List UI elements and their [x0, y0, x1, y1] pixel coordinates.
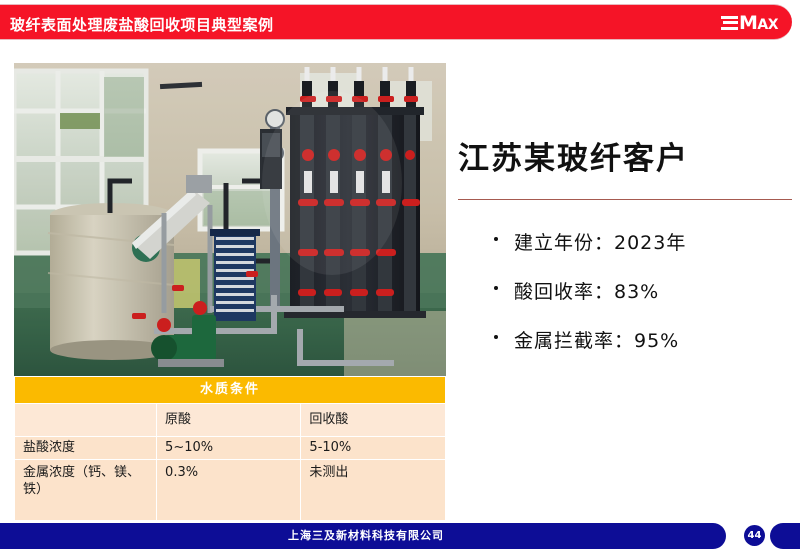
footer-tail-accent [770, 523, 800, 549]
list-item: 金属拦截率：95% [492, 326, 792, 353]
s-stripes-icon [721, 15, 738, 33]
footer-company-name: 上海三及新材料科技有限公司 [288, 527, 444, 543]
bullet-dot-icon [494, 237, 498, 241]
table-row: 金属浓度（钙、镁、铁） 0.3% 未测出 [15, 460, 446, 521]
fact-metal-rejection-rate: 金属拦截率：95% [514, 330, 679, 352]
column-header-recovered-acid: 回收酸 [301, 404, 446, 437]
cell-metal-raw: 0.3% [157, 460, 301, 521]
row-label-hcl-concentration: 盐酸浓度 [15, 437, 157, 460]
row-label-metal-concentration: 金属浓度（钙、镁、铁） [15, 460, 157, 521]
column-header-raw-acid: 原酸 [157, 404, 301, 437]
brand-logo: MAX [721, 13, 778, 35]
customer-heading: 江苏某玻纤客户 [458, 133, 788, 178]
page-number-badge: 44 [744, 525, 765, 546]
logo-text: MAX [739, 14, 778, 35]
bullet-dot-icon [494, 335, 498, 339]
water-quality-table: 水质条件 原酸 回收酸 盐酸浓度 5~10% 5-10% 金属浓度（钙、镁、铁）… [14, 376, 446, 521]
page-title: 玻纤表面处理废盐酸回收项目典型案例 [10, 14, 274, 35]
cell-metal-recovered: 未测出 [301, 460, 446, 521]
logo-text-main: M [739, 12, 757, 34]
logo-text-sub: AX [757, 17, 778, 33]
facility-photo-illustration [14, 63, 446, 376]
fact-established-year: 建立年份：2023年 [514, 232, 686, 254]
column-header-blank [15, 404, 157, 437]
heading-divider [458, 199, 792, 200]
table-header-row: 原酸 回收酸 [15, 404, 446, 437]
slide-root: 玻纤表面处理废盐酸回收项目典型案例 MAX [0, 0, 800, 549]
bullet-dot-icon [494, 286, 498, 290]
facility-photo [14, 63, 446, 376]
header-bar: 玻纤表面处理废盐酸回收项目典型案例 MAX [0, 4, 792, 40]
table-title-row: 水质条件 [15, 377, 446, 404]
fact-acid-recovery-rate: 酸回收率：83% [514, 281, 659, 303]
table-row: 盐酸浓度 5~10% 5-10% [15, 437, 446, 460]
list-item: 建立年份：2023年 [492, 228, 792, 255]
key-facts-list: 建立年份：2023年 酸回收率：83% 金属拦截率：95% [492, 228, 792, 375]
list-item: 酸回收率：83% [492, 277, 792, 304]
cell-hcl-raw: 5~10% [157, 437, 301, 460]
cell-hcl-recovered: 5-10% [301, 437, 446, 460]
table-title: 水质条件 [15, 377, 446, 404]
